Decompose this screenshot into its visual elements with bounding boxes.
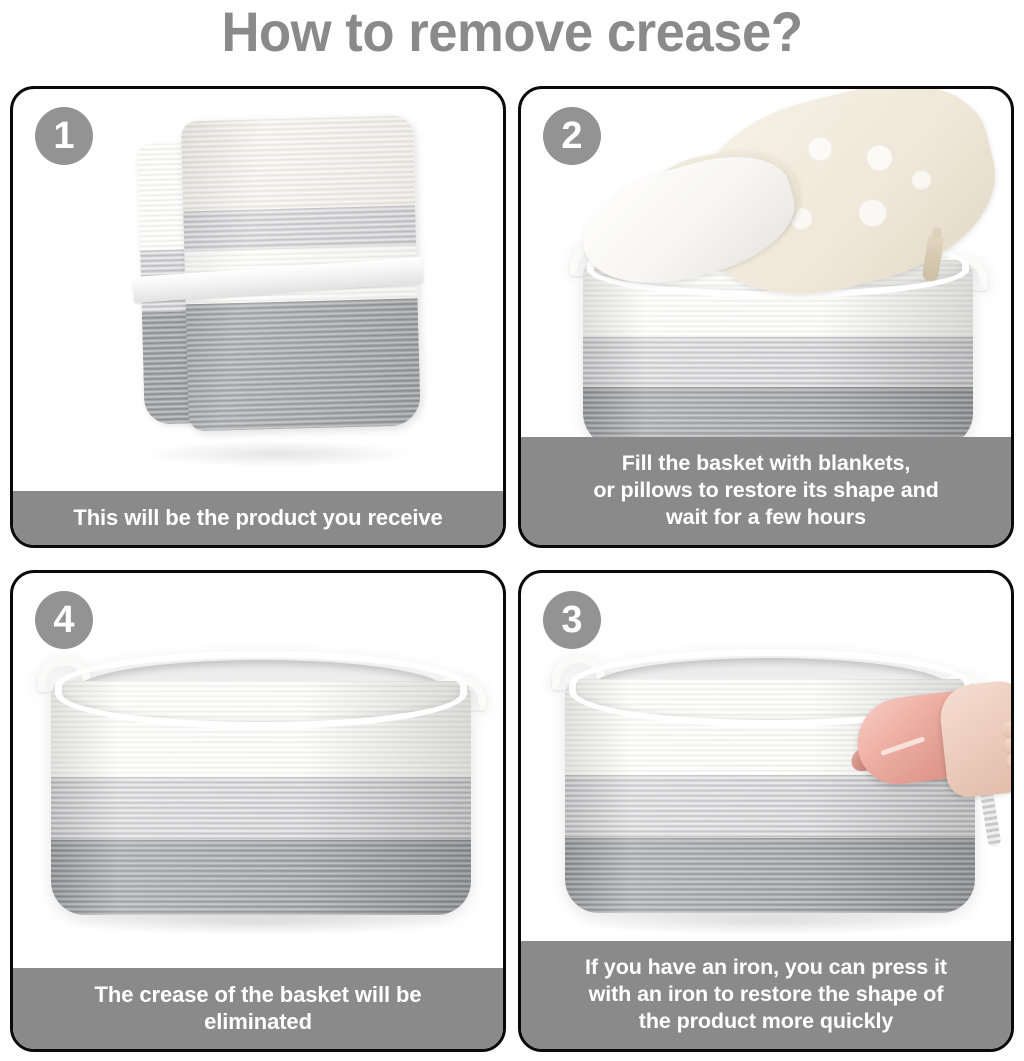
step-caption: The crease of the basket will be elimina…: [13, 968, 503, 1049]
step-panel-4: 4 The crease of the basket will be elimi…: [10, 570, 506, 1052]
hand: [937, 679, 1014, 799]
step-number-badge: 2: [543, 107, 601, 165]
finger: [1006, 751, 1014, 769]
step-panel-2: 2 Fill the basket with: [518, 86, 1014, 548]
step-caption: If you have an iron, you can press it wi…: [521, 941, 1011, 1049]
step-number-badge: 3: [543, 591, 601, 649]
step-number-badge: 4: [35, 591, 93, 649]
page-title: How to remove crease?: [31, 0, 994, 70]
step-panel-1: 1 This will be the product you: [10, 86, 506, 548]
rope-basket-illustration: [51, 615, 471, 915]
folded-basket-illustration: [129, 115, 427, 442]
step-caption: This will be the product you receive: [13, 491, 503, 545]
steps-grid: 1 This will be the product you: [0, 86, 1024, 1061]
garment-steamer-iron: [857, 683, 1014, 815]
drop-shadow: [143, 441, 413, 467]
basket-rim: [55, 651, 467, 729]
step-number-badge: 1: [35, 107, 93, 165]
product-photo-folded-basket: [13, 89, 503, 545]
step-panel-3: 3: [518, 570, 1014, 1052]
step-caption: Fill the basket with blankets, or pillow…: [521, 437, 1011, 545]
finger: [1001, 716, 1014, 738]
